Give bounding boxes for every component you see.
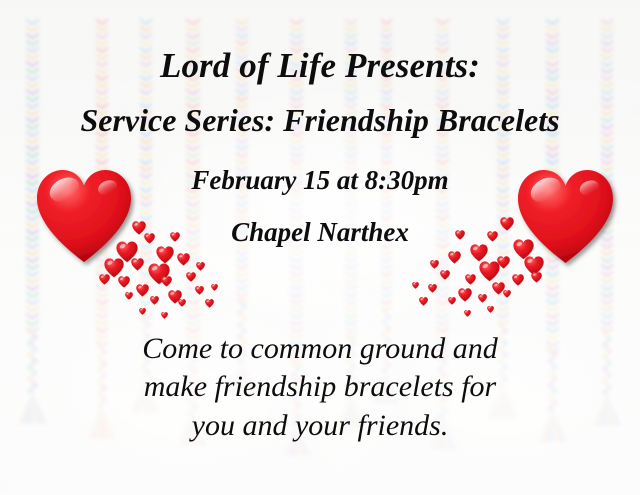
event-date-time: February 15 at 8:30pm: [0, 167, 640, 194]
poster-body-copy: Come to common ground and make friendshi…: [0, 330, 640, 445]
poster-text-layer: Lord of Life Presents: Service Series: F…: [0, 0, 640, 495]
body-line-2: make friendship bracelets for: [0, 368, 640, 406]
poster-subtitle: Service Series: Friendship Bracelets: [0, 104, 640, 136]
event-location: Chapel Narthex: [0, 219, 640, 246]
body-line-3: you and your friends.: [0, 407, 640, 445]
poster-title: Lord of Life Presents:: [0, 48, 640, 83]
body-line-1: Come to common ground and: [0, 330, 640, 368]
event-poster: Lord of Life Presents: Service Series: F…: [0, 0, 640, 495]
